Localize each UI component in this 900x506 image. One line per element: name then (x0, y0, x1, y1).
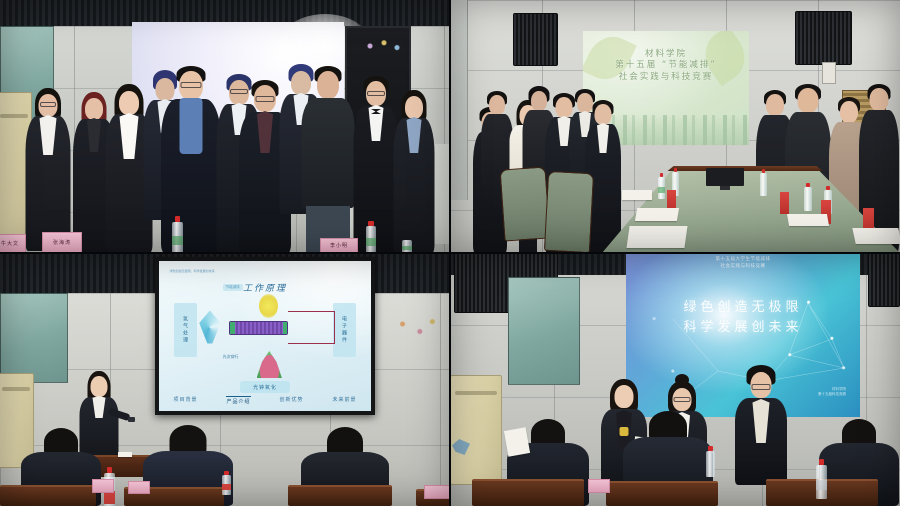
bench-row (288, 485, 392, 506)
glass-partition (508, 277, 580, 385)
photo-team-qa: 第十五届大学生节能减排 社会实践与科技竞赛 绿色创造无极限 科学发展创未来 材料… (450, 253, 900, 506)
head (405, 96, 423, 119)
student-presenter-3 (734, 365, 788, 485)
bottle-cap (819, 459, 825, 465)
person-1 (24, 88, 72, 253)
glasses (752, 384, 771, 390)
diagram-circuit (288, 311, 335, 344)
inner-sweater (180, 98, 203, 154)
slide-nav-item-active[interactable]: 产品介绍 (226, 396, 250, 405)
torso (302, 98, 355, 208)
diagram-capsule: 光钟氧化 (240, 381, 291, 393)
diagram-reactor (229, 321, 288, 335)
slide-header: 绿色创造无极限，科学发展创未来 (170, 269, 215, 273)
leaf-decor (583, 31, 637, 87)
glasses (674, 397, 691, 402)
document-sheet (852, 228, 900, 244)
water-bottle (804, 187, 812, 211)
document-sheet (787, 214, 829, 226)
wall-speaker-left (513, 13, 558, 66)
slide-header: 第十五届大学生节能减排 社会实践与科技竞赛 (626, 256, 860, 270)
bottle-cap (826, 186, 830, 190)
head (489, 95, 505, 115)
head (595, 104, 612, 125)
glass-partition (0, 293, 68, 383)
slide-main-title: 绿色创造无极限 科学发展创未来 (626, 297, 860, 337)
bench-row (472, 479, 584, 506)
diagram-sun (259, 294, 278, 318)
bottle-cap (224, 471, 229, 475)
name-placard: 牛大文 (0, 234, 26, 253)
diagram-label-right: 电子器件 (333, 303, 356, 357)
bottle-cap (806, 183, 810, 187)
name-placard (588, 479, 610, 493)
bottle-cap (660, 173, 664, 177)
head (91, 376, 108, 397)
confetti-marks (360, 38, 410, 54)
confetti-marks-right (392, 315, 440, 345)
bottle-cap (762, 169, 766, 173)
head (119, 91, 139, 115)
slide-nav-item[interactable]: 项目背景 (173, 396, 197, 405)
photo-collage: 牛大文 张海涛 李小明 材料学院 第十五届 “节能减排” 社会实践与科技竞赛 (0, 0, 900, 506)
name-placard (92, 479, 114, 493)
water-bottle (222, 475, 231, 495)
wall-speaker-right (795, 11, 852, 65)
gift-box (780, 192, 789, 214)
diagram-funnel (199, 311, 220, 344)
bench-row (0, 485, 96, 506)
clicker-remote (128, 417, 135, 422)
photo-group-award: 牛大文 张海涛 李小明 (0, 0, 450, 253)
bottle-cap (368, 221, 373, 226)
diagram-plant (257, 351, 282, 378)
glasses (181, 82, 202, 88)
bottle-label (402, 246, 412, 250)
head (870, 88, 889, 111)
head (840, 101, 858, 123)
bottle-cap (674, 168, 678, 172)
radiator-cabinet (450, 375, 502, 485)
podium-paper (118, 452, 132, 457)
person-11 (392, 90, 436, 253)
bottle-cap (175, 216, 181, 222)
name-placard (128, 481, 150, 494)
bottle-label (104, 491, 115, 504)
head (766, 94, 784, 116)
water-bottle (816, 465, 827, 499)
slide-nav-item[interactable]: 创新优势 (279, 396, 303, 405)
slide-footer: 材料学院 第十五届科技竞赛 (818, 387, 846, 398)
wall-speaker-right (868, 253, 900, 307)
slide-title: 工作原理 (159, 281, 371, 294)
hair-bun (675, 374, 689, 386)
chair-back (500, 166, 551, 241)
bottle-cap (107, 467, 113, 473)
water-bottle (706, 451, 715, 477)
bench-row (606, 481, 718, 506)
photo-presentation: 绿色创造无极限，科学发展创未来 节能减排 工作原理 氢气处理 电子器件 光次穿行… (0, 253, 450, 506)
document-stack (626, 226, 687, 248)
projection-screen: 绿色创造无极限，科学发展创未来 节能减排 工作原理 氢气处理 电子器件 光次穿行… (155, 257, 375, 415)
glasses (40, 102, 56, 107)
head (317, 71, 339, 99)
diagram-mid-label: 光次穿行 (223, 354, 239, 360)
diagram-label-left: 氢气处理 (174, 303, 197, 357)
chair-back (544, 171, 594, 253)
laptop-monitor (706, 168, 744, 186)
glasses (256, 96, 275, 102)
slide-nav: 项目背景 产品介绍 创新优势 未来前景 (159, 396, 371, 405)
bottle-label (172, 236, 183, 245)
head (615, 385, 634, 408)
name-placard (424, 485, 450, 499)
photo-conference-room: 材料学院 第十五届 “节能减排” 社会实践与科技竞赛 (450, 0, 900, 253)
document-sheet (635, 208, 679, 221)
name-placard: 张海涛 (42, 232, 82, 253)
wall-control-panel (822, 62, 836, 84)
name-placard: 李小明 (320, 238, 358, 253)
bottle-label (222, 484, 231, 490)
document-sheet (622, 190, 652, 200)
monitor-stand (720, 186, 730, 190)
bottle-label (366, 238, 376, 246)
water-bottle (658, 177, 665, 199)
bottle-label (816, 480, 827, 490)
leaf-decor (695, 31, 749, 86)
slide-nav-item[interactable]: 未来前景 (332, 396, 356, 405)
person-5-leader (160, 66, 222, 253)
collage-seam-horizontal (0, 252, 900, 254)
glasses (367, 91, 385, 96)
head (798, 88, 819, 113)
bottle-cap (708, 446, 713, 451)
judge-paper (504, 427, 530, 456)
water-bottle (760, 173, 767, 196)
water-bottle (366, 226, 376, 253)
head (85, 98, 103, 120)
water-bottle (172, 222, 183, 253)
bottle-label (658, 187, 665, 194)
left-door-frame (450, 0, 468, 200)
person-9 (300, 66, 356, 253)
